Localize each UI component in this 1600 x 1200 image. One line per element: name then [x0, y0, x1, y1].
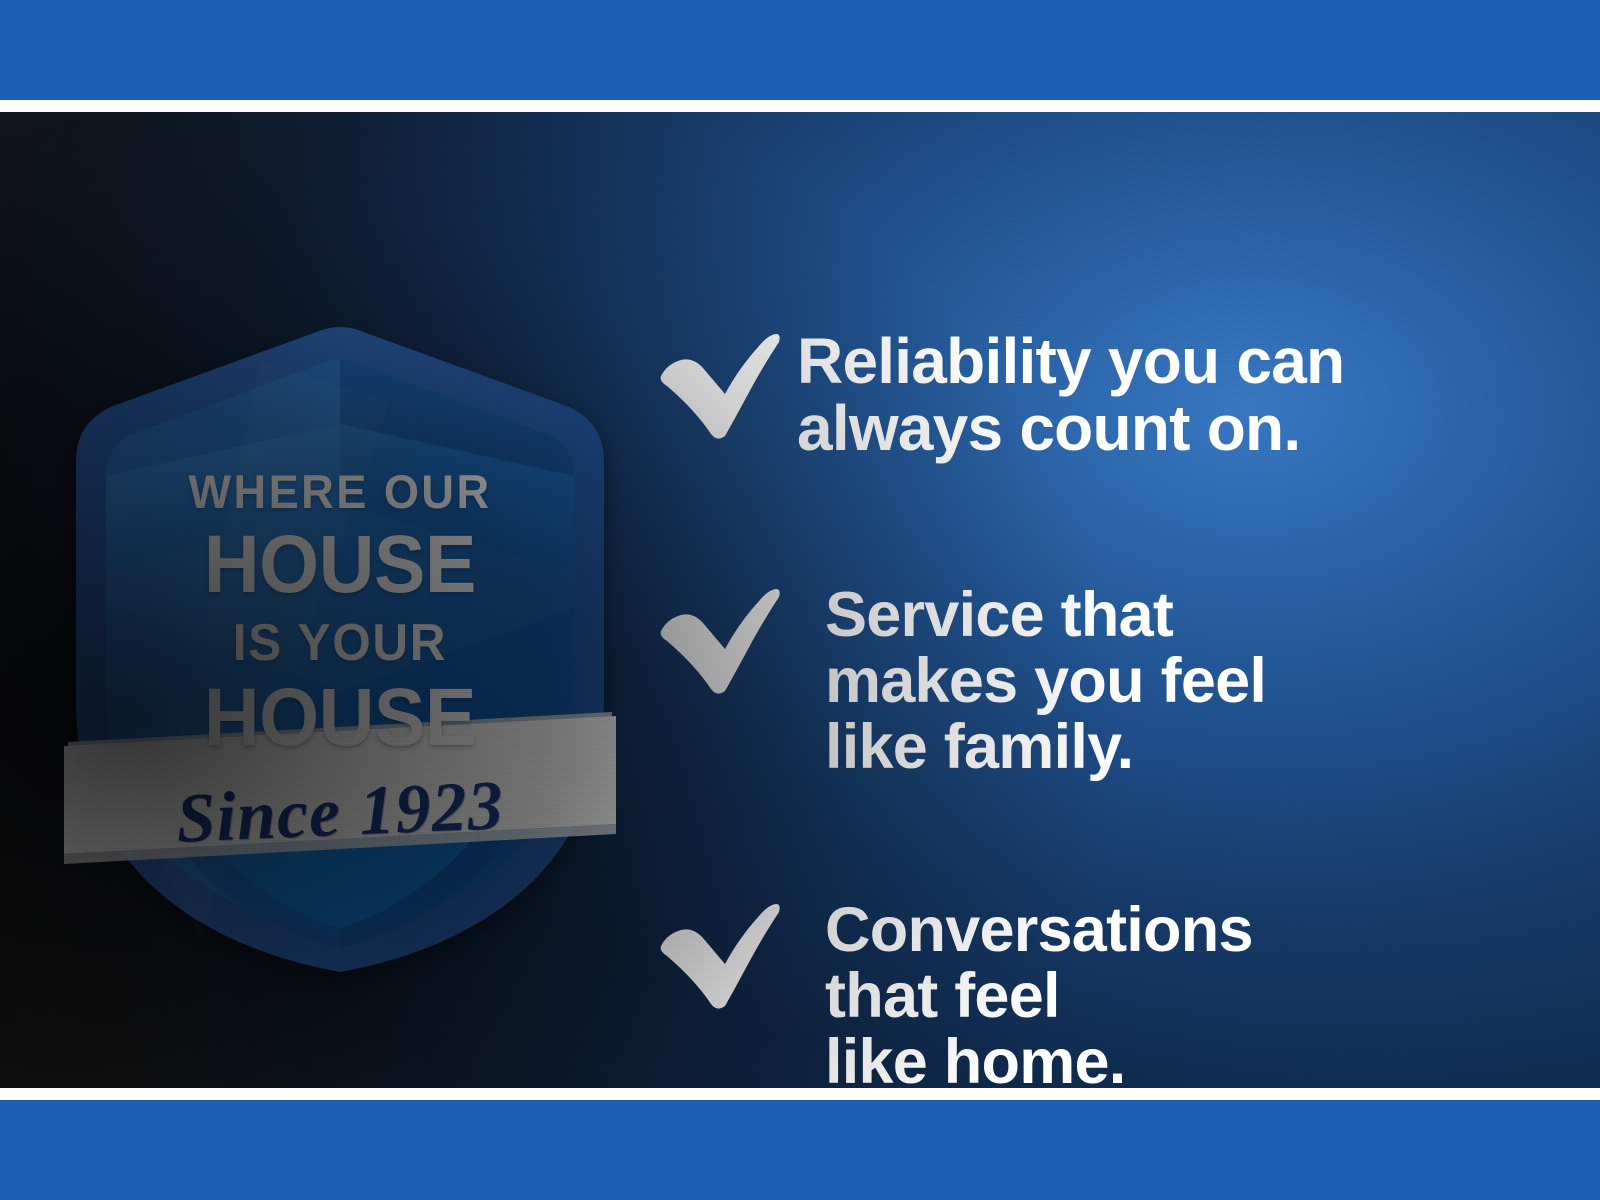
list-item: Conversations that feel like home. — [655, 894, 1535, 1088]
benefits-list: Reliability you can always count on. Ser… — [655, 224, 1535, 1088]
check-icon — [655, 894, 783, 1012]
list-item: Service that makes you feel like family. — [655, 579, 1535, 780]
badge-line-4: HOUSE — [77, 677, 603, 759]
badge-line-1: WHERE OUR — [71, 468, 609, 515]
list-item-line: like family. — [825, 715, 1535, 781]
list-item-line: makes you feel — [825, 649, 1535, 715]
main-panel: WHERE OUR HOUSE IS YOUR HOUSE Since 1923… — [0, 112, 1600, 1088]
list-item-line: like home. — [825, 1030, 1535, 1088]
list-item-line: always count on. — [797, 395, 1535, 462]
check-icon — [655, 324, 783, 442]
badge-line-3: IS YOUR — [74, 617, 606, 669]
top-brand-bar — [0, 0, 1600, 100]
list-item-line: Service that — [825, 583, 1535, 649]
list-item-text: Service that makes you feel like family. — [797, 579, 1535, 780]
list-item: Reliability you can always count on. — [655, 324, 1535, 462]
bottom-brand-bar — [0, 1100, 1600, 1200]
check-icon — [655, 579, 783, 697]
list-item-line: Conversations — [825, 898, 1535, 964]
list-item-text: Conversations that feel like home. — [797, 894, 1535, 1088]
list-item-text: Reliability you can always count on. — [797, 324, 1535, 462]
list-item-line: Reliability you can — [797, 328, 1535, 395]
promo-graphic: WHERE OUR HOUSE IS YOUR HOUSE Since 1923… — [0, 0, 1600, 1200]
badge-line-2: HOUSE — [77, 524, 603, 606]
shield-badge: WHERE OUR HOUSE IS YOUR HOUSE Since 1923 — [60, 272, 620, 952]
list-item-line: that feel — [825, 964, 1535, 1030]
